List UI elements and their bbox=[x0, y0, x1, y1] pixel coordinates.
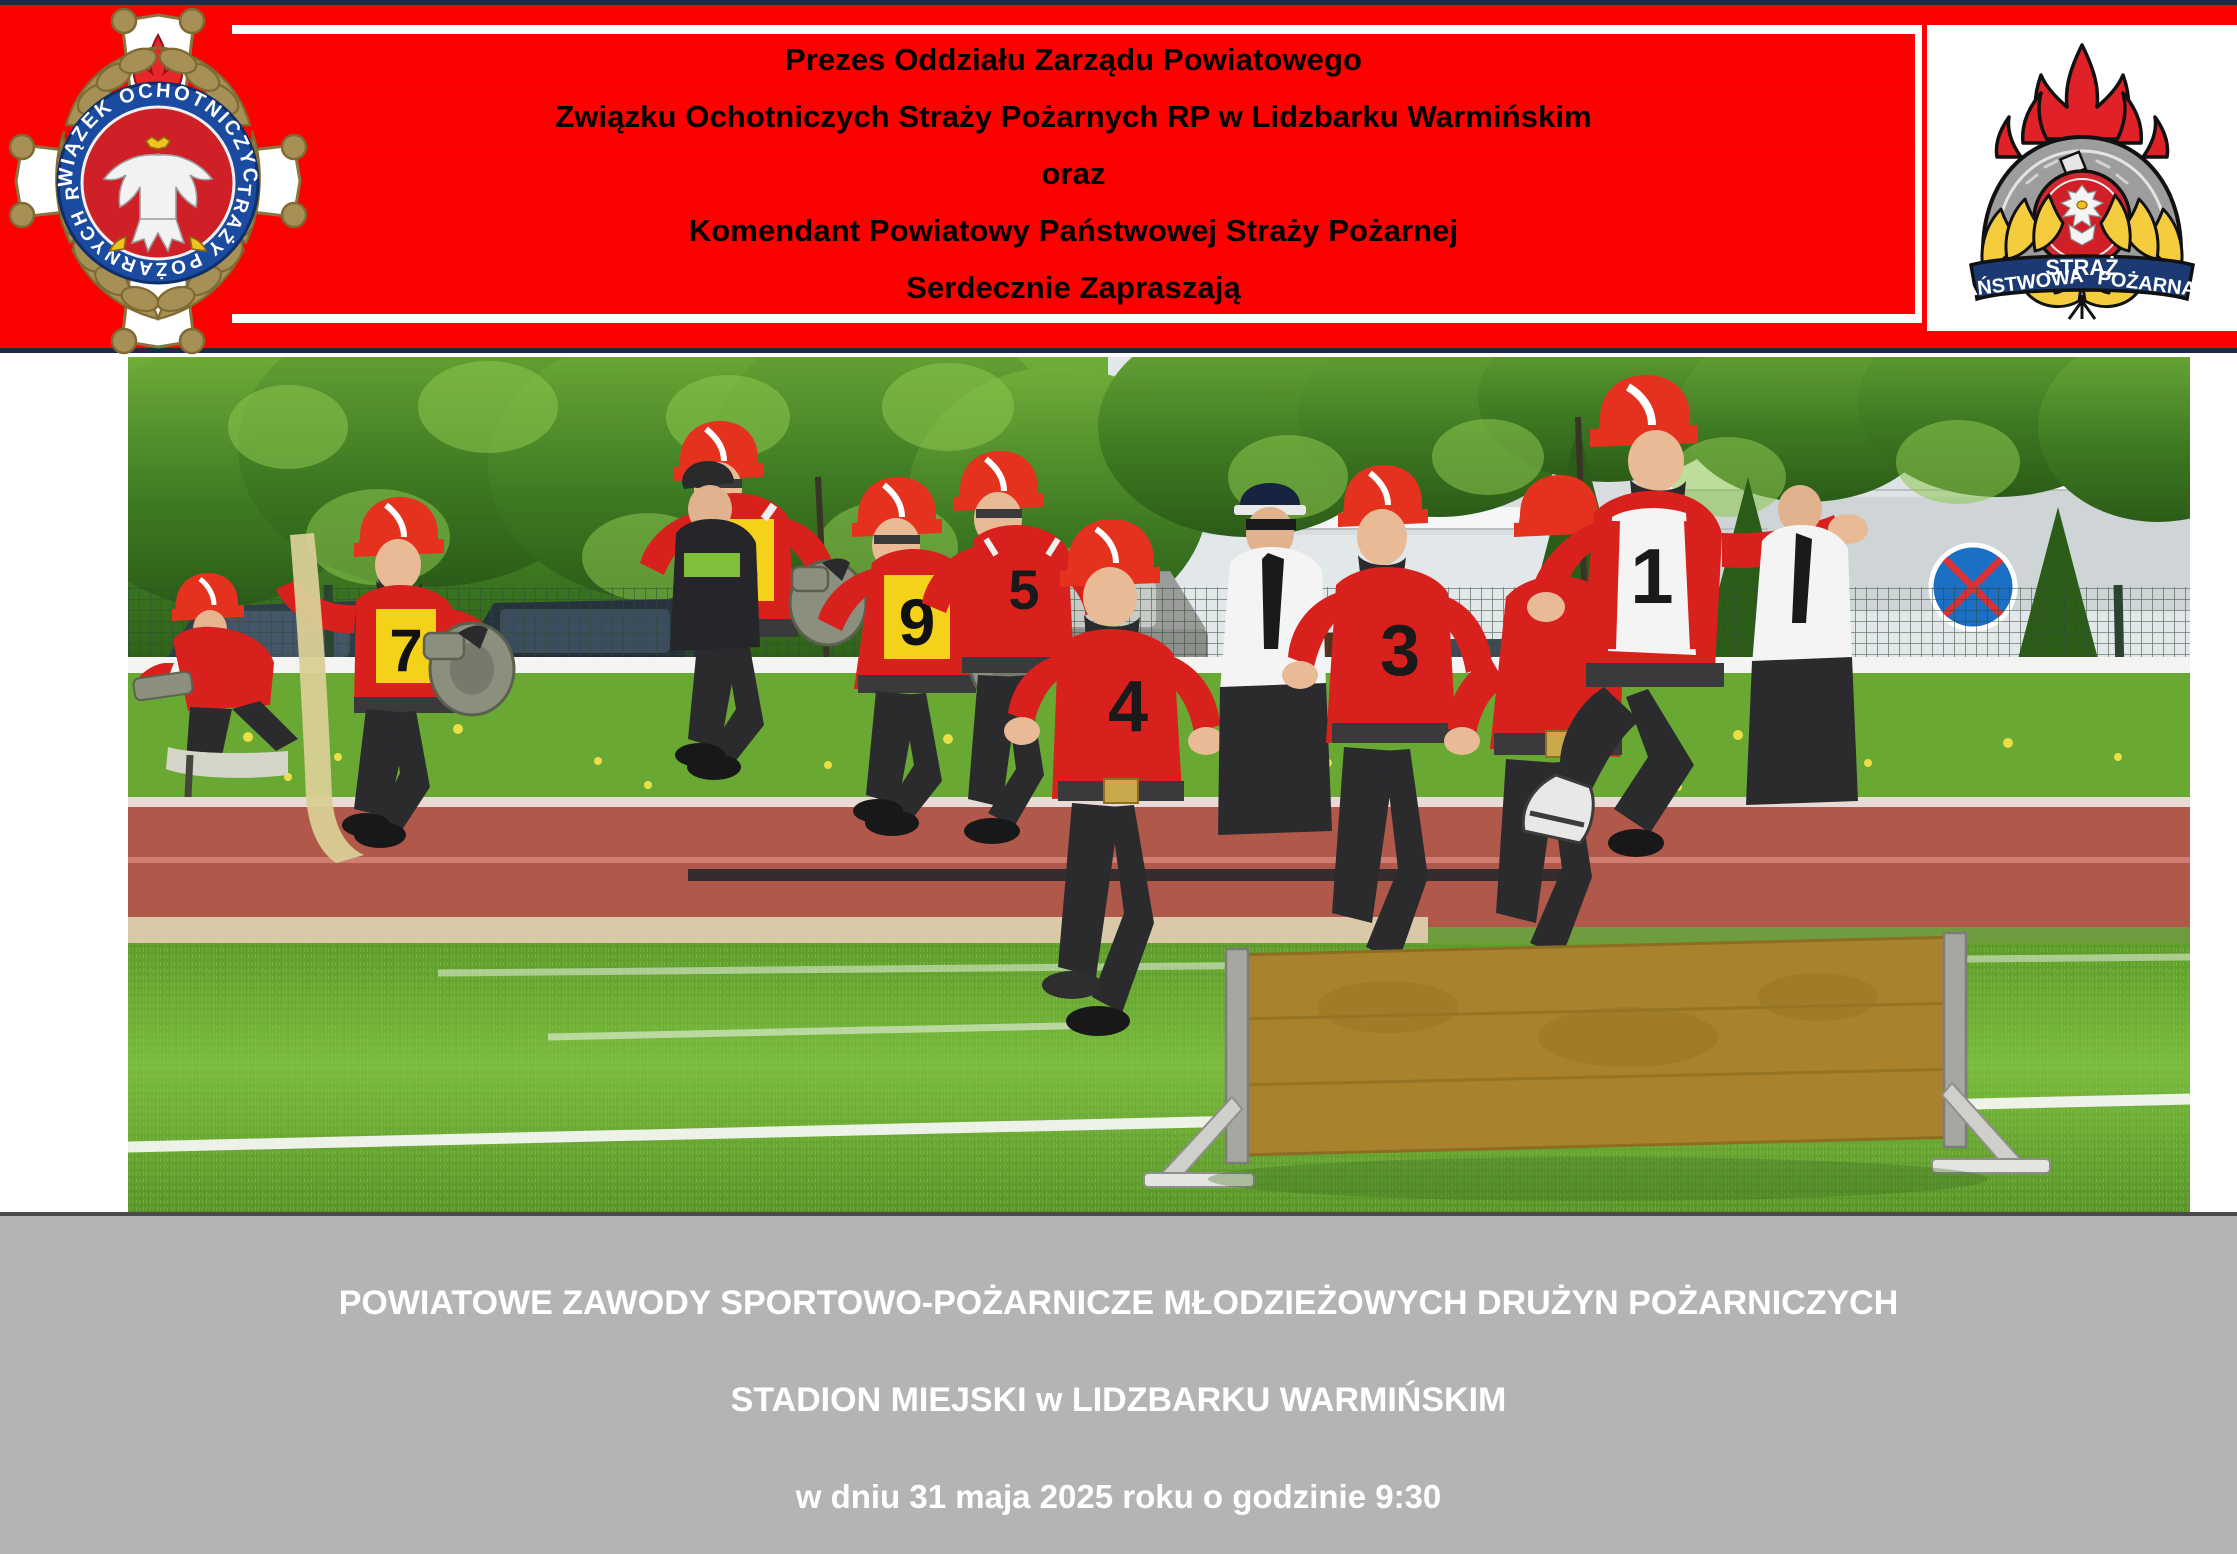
photo-scene: 7 bbox=[128, 357, 2190, 1212]
poster-page: Prezes Oddziału Zarządu Powiatowego Zwią… bbox=[0, 0, 2237, 1554]
event-title: POWIATOWE ZAWODY SPORTOWO-POŻARNICZE MŁO… bbox=[0, 1284, 2237, 1323]
bib-number-1: 1 bbox=[1630, 532, 1673, 620]
invite-line-2: Związku Ochotniczych Straży Pożarnych RP… bbox=[232, 89, 1915, 146]
invite-line-4: Komendant Powiatowy Państwowej Straży Po… bbox=[232, 203, 1915, 260]
invite-line-5: Serdecznie Zapraszają bbox=[232, 260, 1915, 316]
invite-line-1: Prezes Oddziału Zarządu Powiatowego bbox=[232, 32, 1915, 89]
panstwowa-straz-pozarna-icon: PAŃSTWOWA STRAŻ POŻARNA bbox=[1941, 33, 2223, 323]
bib-number-7: 7 bbox=[389, 617, 422, 684]
invite-line-3: oraz bbox=[232, 146, 1915, 203]
footer-band: POWIATOWE ZAWODY SPORTOWO-POŻARNICZE MŁO… bbox=[0, 1212, 2237, 1554]
bib-number-3: 3 bbox=[1380, 611, 1420, 691]
bib-number-5: 5 bbox=[1008, 558, 1039, 621]
zosp-rp-emblem-icon: ZWIĄZEK OCHOTNICZYCH STRAŻY POŻARNYCH RP bbox=[8, 7, 308, 355]
competition-photo: 7 bbox=[128, 357, 2190, 1212]
header-band: Prezes Oddziału Zarządu Powiatowego Zwią… bbox=[0, 0, 2237, 353]
invitation-text-box: Prezes Oddziału Zarządu Powiatowego Zwią… bbox=[232, 25, 1922, 323]
bib-number-4: 4 bbox=[1108, 667, 1148, 747]
psp-logo-panel: PAŃSTWOWA STRAŻ POŻARNA bbox=[1927, 25, 2237, 331]
event-datetime: w dniu 31 maja 2025 roku o godzinie 9:30 bbox=[0, 1478, 2237, 1516]
event-venue: STADION MIEJSKI w LIDZBARKU WARMIŃSKIM bbox=[0, 1381, 2237, 1420]
